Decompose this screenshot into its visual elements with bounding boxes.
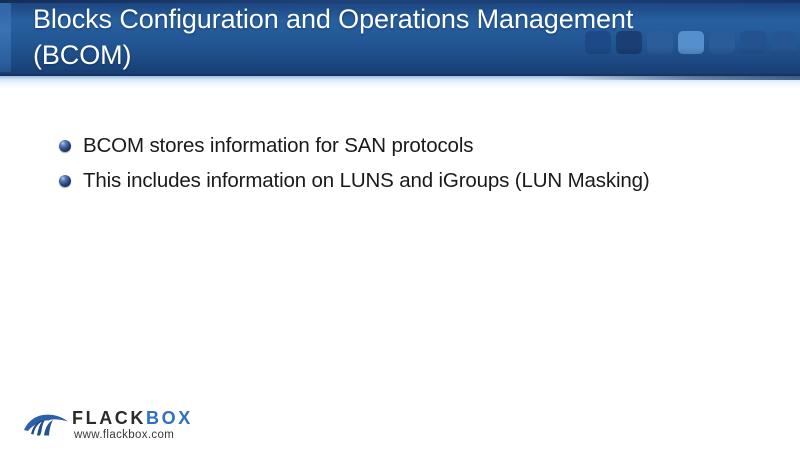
bullet-sphere-icon: [59, 175, 71, 187]
bullet-text: This includes information on LUNS and iG…: [83, 169, 650, 192]
logo-url-text: www.flackbox.com: [74, 429, 174, 442]
bullet-sphere-icon: [59, 140, 71, 152]
header-shadow-right: [560, 76, 800, 80]
presentation-slide: Blocks Configuration and Operations Mana…: [0, 0, 800, 450]
flackbox-swoosh-icon: [22, 408, 70, 438]
list-item: This includes information on LUNS and iG…: [56, 165, 756, 197]
logo-wordmark: FLACKBOX: [72, 409, 193, 428]
flackbox-logo: FLACKBOX www.flackbox.com: [22, 404, 202, 444]
slide-bullet-list: BCOM stores information for SAN protocol…: [56, 130, 756, 200]
bullet-text: BCOM stores information for SAN protocol…: [83, 134, 473, 157]
logo-word-flack: FLACK: [72, 408, 146, 428]
list-item: BCOM stores information for SAN protocol…: [56, 130, 756, 162]
header-accent-strip: [0, 0, 11, 76]
slide-title: Blocks Configuration and Operations Mana…: [33, 1, 733, 73]
header-square-6: [740, 31, 766, 54]
logo-word-box: BOX: [146, 408, 193, 428]
header-square-7: [771, 31, 797, 54]
